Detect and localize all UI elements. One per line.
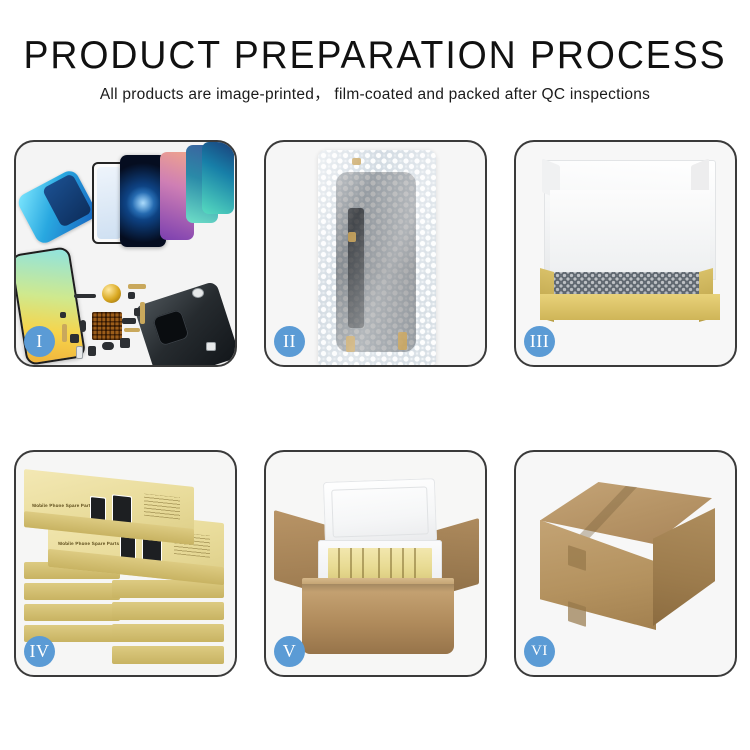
tape-piece <box>352 158 361 165</box>
phone-back-housing <box>134 281 235 365</box>
panel-bubble-wrapped-screen: II <box>264 140 487 367</box>
small-part <box>128 292 135 299</box>
foam-inner-face <box>550 190 710 272</box>
panel-open-kraft-box-with-foam: III <box>514 140 737 367</box>
styrofoam-lid <box>323 478 437 546</box>
bubble-wrap-bag <box>318 150 436 365</box>
step-badge-3: III <box>524 326 555 357</box>
box-tray-front <box>540 294 720 320</box>
step-badge-2: II <box>274 326 305 357</box>
small-part <box>74 294 96 298</box>
phone-screen-teal-second <box>202 142 234 214</box>
small-part <box>60 312 66 318</box>
flex-cable-part <box>128 284 146 289</box>
small-part <box>88 346 96 356</box>
phone-screen-cyan-flexible <box>16 168 99 247</box>
panel-sealed-shipping-carton: VI <box>514 450 737 677</box>
box-print-label: Mobile Phone Spare Parts <box>32 503 94 508</box>
small-white-part <box>206 342 216 351</box>
box-edge <box>24 583 120 600</box>
panel-stacked-kraft-boxes: Mobile Phone Spare Parts Mobile Phone Sp… <box>14 450 237 677</box>
box-print-label: Mobile Phone Spare Parts <box>58 541 120 546</box>
box-edge <box>24 604 120 621</box>
chip-grid-part <box>92 312 122 340</box>
flex-cable-part <box>140 302 145 324</box>
small-part <box>122 318 136 324</box>
process-step-grid: I II <box>14 140 736 677</box>
box-edge <box>112 602 224 620</box>
page-title: PRODUCT PREPARATION PROCESS <box>15 34 735 78</box>
carton-body <box>302 584 454 654</box>
panel-carton-with-styrofoam: V <box>264 450 487 677</box>
small-white-part <box>192 288 204 298</box>
small-part <box>80 320 86 332</box>
header: PRODUCT PREPARATION PROCESS All products… <box>0 34 750 105</box>
tape-piece <box>346 336 355 352</box>
small-part <box>102 342 114 350</box>
flex-cable-part <box>62 324 67 342</box>
step-badge-4: IV <box>24 636 55 667</box>
product-preparation-infographic: PRODUCT PREPARATION PROCESS All products… <box>0 0 750 750</box>
panel-parts-and-screens: I <box>14 140 237 367</box>
tape-piece <box>348 232 356 242</box>
flex-cable-part <box>124 328 140 332</box>
small-part <box>70 334 79 343</box>
page-subtitle: All products are image-printed， film-coa… <box>0 85 750 105</box>
wrapped-screen-ribbon <box>348 208 364 328</box>
box-edge <box>112 624 224 642</box>
tape-piece <box>398 332 407 350</box>
small-white-part <box>76 346 83 359</box>
step-badge-6: VI <box>524 636 555 667</box>
speaker-ring-part <box>102 284 121 303</box>
small-part <box>120 338 130 348</box>
box-edge <box>112 646 224 664</box>
step-badge-1: I <box>24 326 55 357</box>
step-badge-5: V <box>274 636 305 667</box>
box-print-spec-lines <box>144 494 180 520</box>
